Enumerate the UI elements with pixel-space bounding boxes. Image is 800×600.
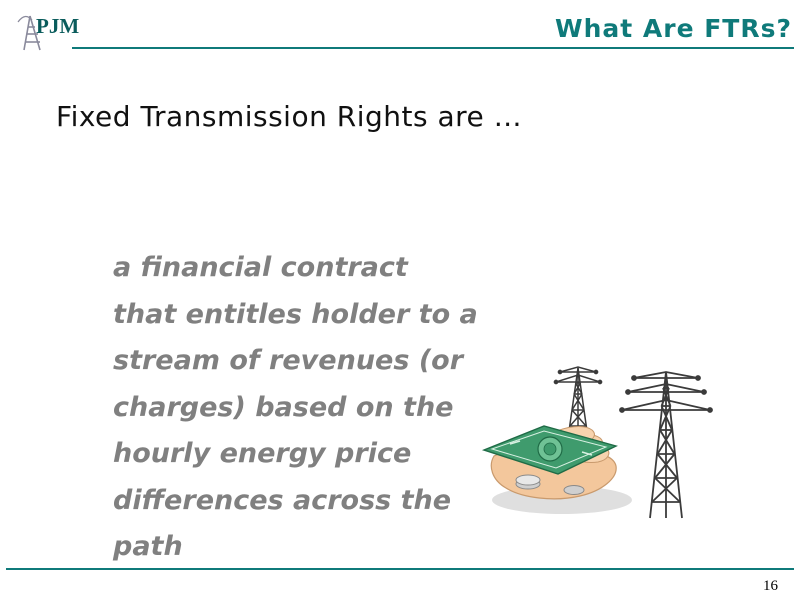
body-line: a financial contract — [113, 245, 543, 292]
hand-holding-money-with-transmission-towers — [470, 338, 760, 538]
page-title: What Are FTRs? — [555, 14, 792, 43]
transmission-tower-right — [620, 372, 712, 518]
page-number: 16 — [763, 578, 778, 595]
slide-subtitle: Fixed Transmission Rights are … — [56, 100, 522, 133]
slide: PJM What Are FTRs? Fixed Transmission Ri… — [0, 0, 800, 600]
header-divider — [72, 47, 794, 49]
body-line: that entitles holder to a — [113, 292, 543, 339]
logo-wordmark: PJM — [36, 14, 79, 39]
footer-divider — [6, 568, 794, 570]
